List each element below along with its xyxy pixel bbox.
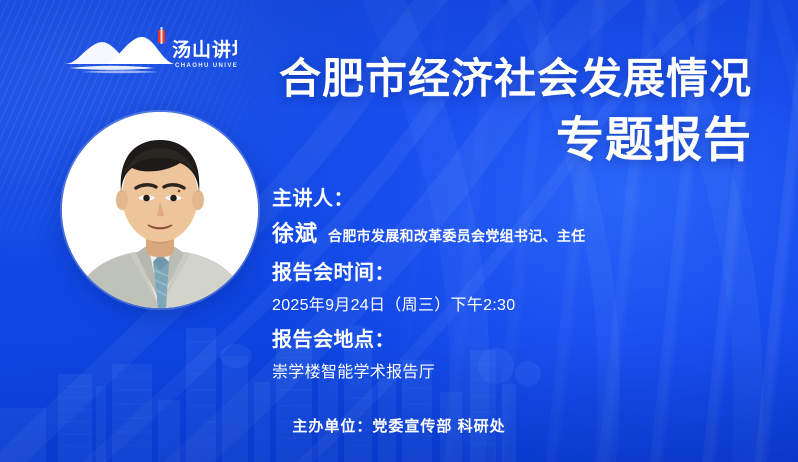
time-value: 2025年9月24日（周三）下午2:30 [272,291,742,315]
place-label: 报告会地点： [272,327,742,353]
headline-line-1: 合肥市经济社会发展情况 [192,56,752,101]
details-spacer-1 [272,248,742,260]
headline-line-2: 专题报告 [192,115,752,167]
place-value: 崇学楼智能学术报告厅 [272,358,742,382]
speaker-name: 徐斌 [272,216,318,248]
event-poster: 汤山讲坛 CHAOHU UNIVERSITY [0,0,798,462]
organizer-text: 主办单位：党委宣传部 科研处 [292,418,505,435]
details-spacer-2 [272,315,742,327]
poster-footer: 主办单位：党委宣传部 科研处 [0,415,798,436]
event-details: 主讲人： 徐斌 合肥市发展和改革委员会党组书记、主任 报告会时间： 2025年9… [272,186,742,382]
speaker-title: 合肥市发展和改革委员会党组书记、主任 [328,226,585,246]
speaker-row: 徐斌 合肥市发展和改革委员会党组书记、主任 [272,216,742,248]
poster-headline: 合肥市经济社会发展情况 专题报告 [192,56,752,167]
speaker-label: 主讲人： [272,186,742,212]
time-label: 报告会时间： [272,260,742,286]
